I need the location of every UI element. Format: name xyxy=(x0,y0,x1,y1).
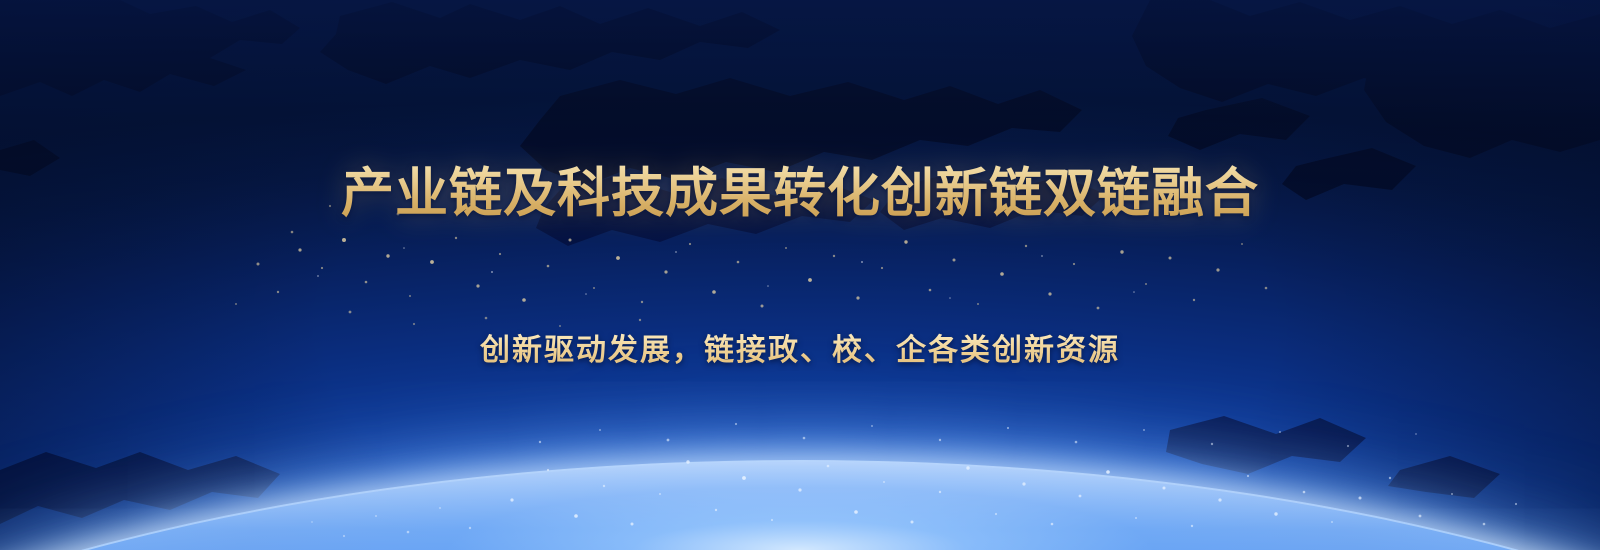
page-subtitle: 创新驱动发展，链接政、校、企各类创新资源 xyxy=(0,330,1600,372)
banner-content: 产业链及科技成果转化创新链双链融合 创新驱动发展，链接政、校、企各类创新资源 xyxy=(0,0,1600,550)
hero-banner: 产业链及科技成果转化创新链双链融合 创新驱动发展，链接政、校、企各类创新资源 xyxy=(0,0,1600,550)
page-title: 产业链及科技成果转化创新链双链融合 xyxy=(0,163,1600,225)
